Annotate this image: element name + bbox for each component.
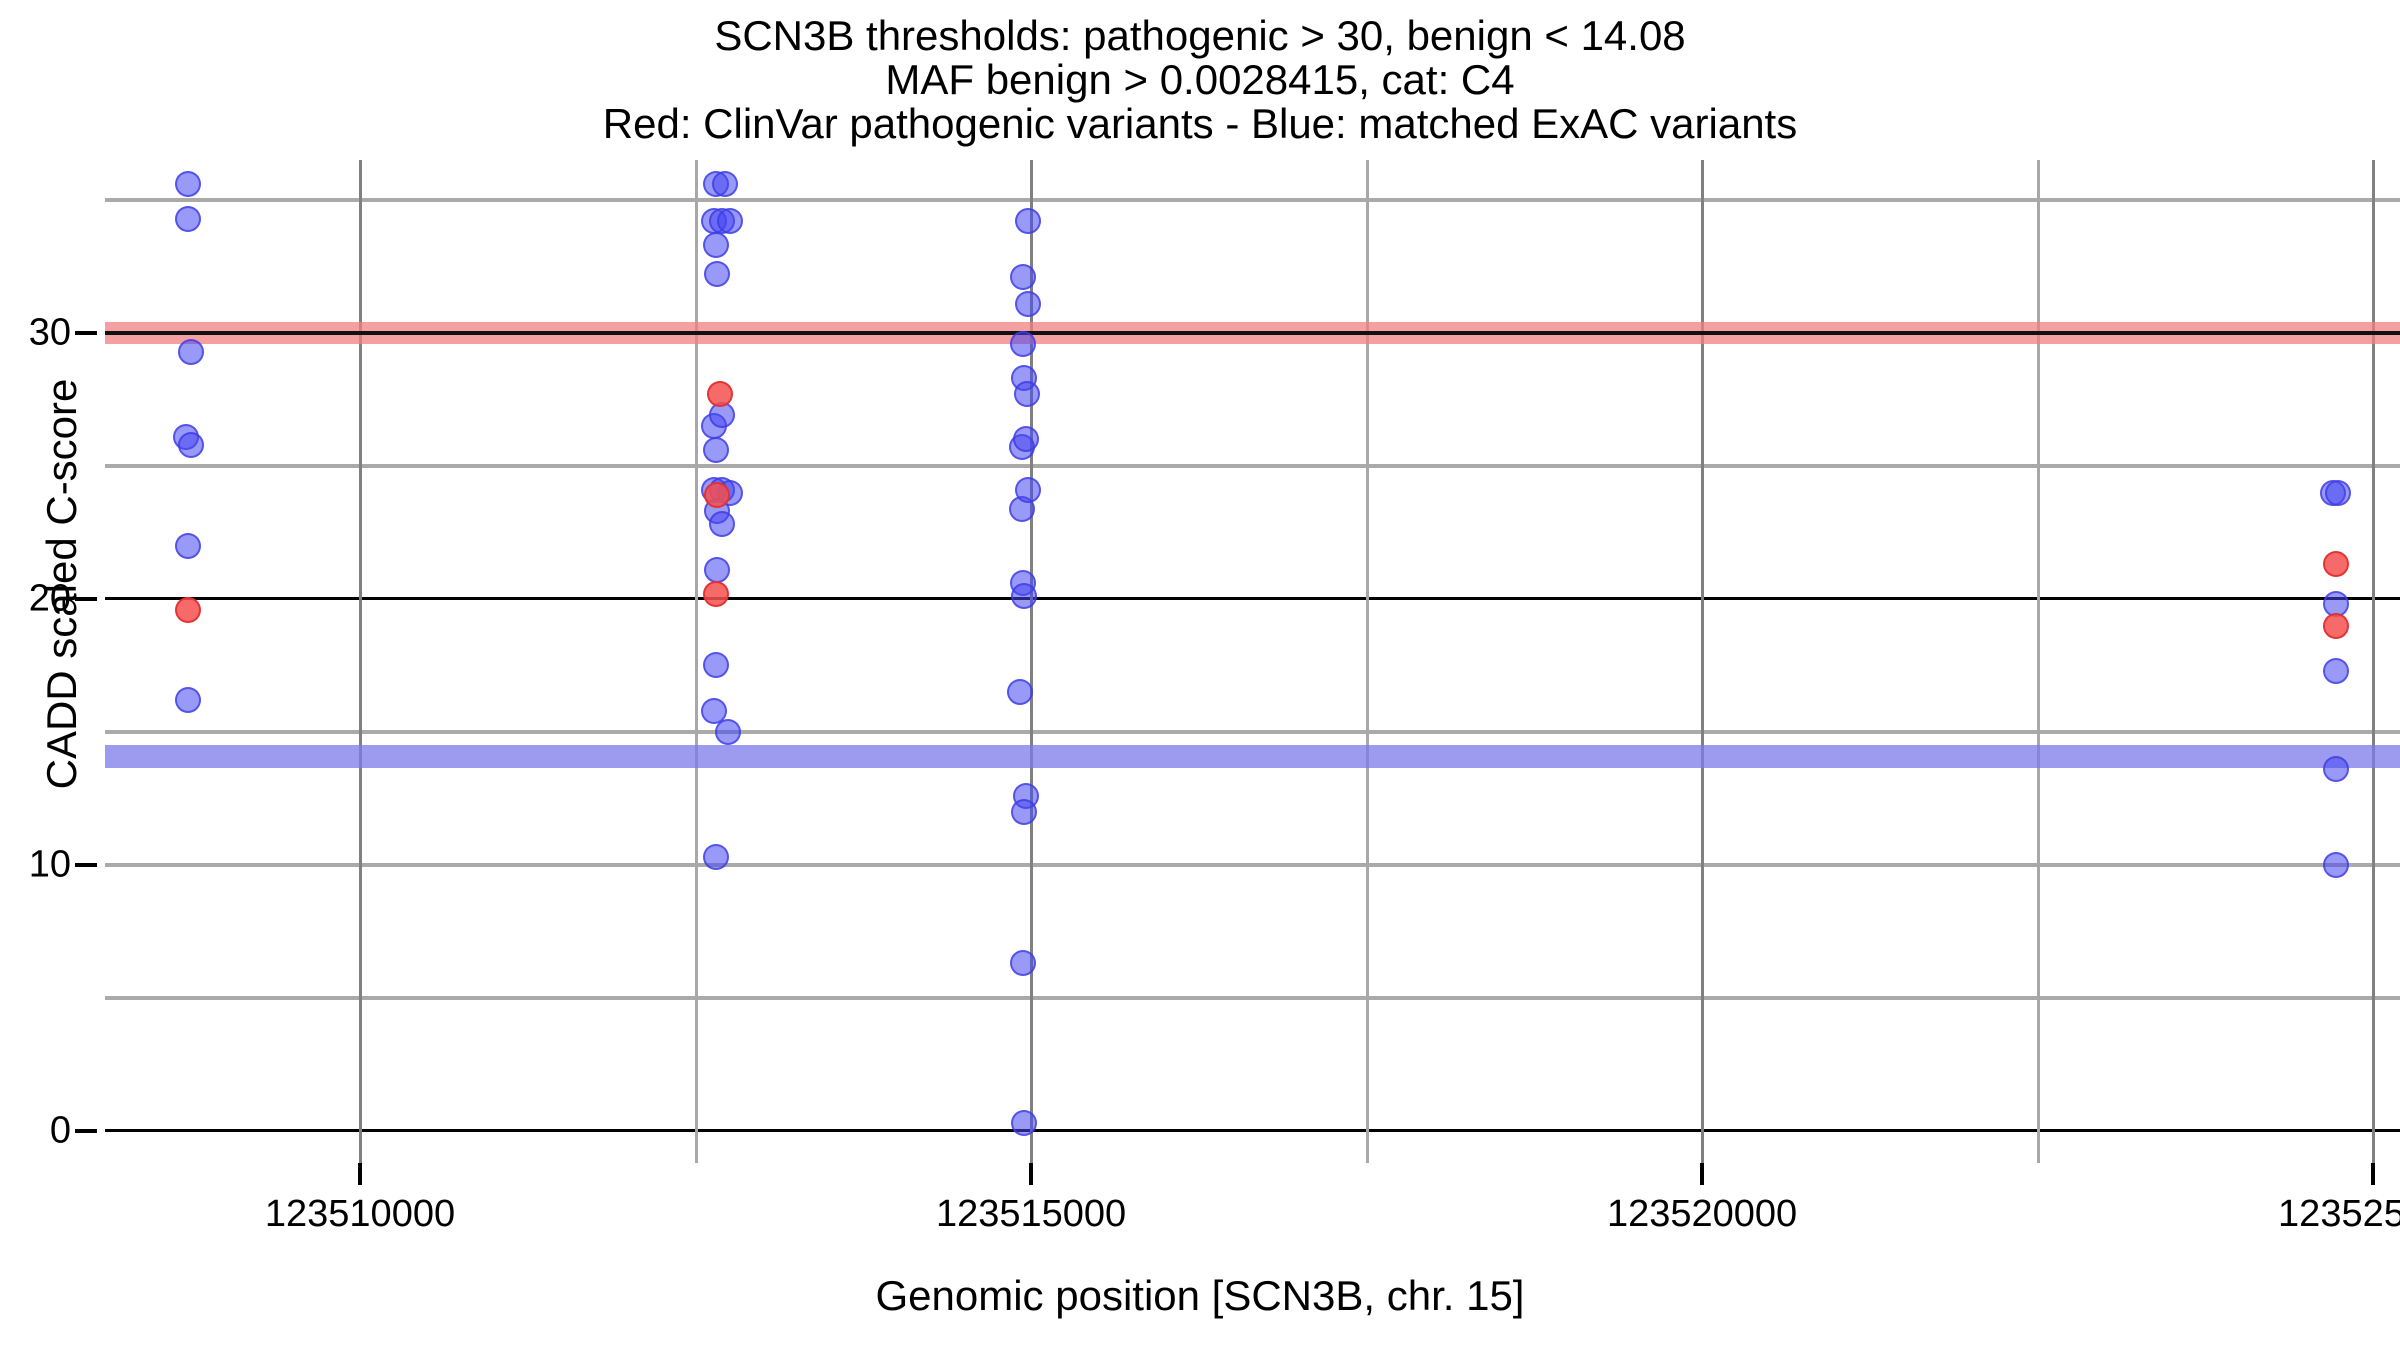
y-gridline [105, 863, 2400, 867]
exac-variant-point [703, 652, 729, 678]
exac-variant-point [175, 533, 201, 559]
x-gridline-minor [695, 160, 698, 1163]
title-line-3: Red: ClinVar pathogenic variants - Blue:… [0, 102, 2400, 146]
exac-variant-point [178, 432, 204, 458]
pathogenic-variant-point [2323, 551, 2349, 577]
y-gridline [105, 730, 2400, 734]
exac-variant-point [175, 206, 201, 232]
x-gridline-minor [2037, 160, 2040, 1163]
exac-variant-point [2323, 658, 2349, 684]
x-tick-mark [2371, 1163, 2375, 1185]
exac-variant-point [175, 171, 201, 197]
plot-area [105, 160, 2400, 1163]
x-tick-mark [358, 1163, 362, 1185]
y-axis-label: CADD scaled C-score [38, 204, 86, 964]
exac-variant-point [715, 719, 741, 745]
exac-variant-point [712, 171, 738, 197]
pathogenic-variant-point [703, 581, 729, 607]
pathogenic-threshold-line [105, 331, 2400, 335]
y-gridline [105, 464, 2400, 468]
benign-threshold-line-band [105, 745, 2400, 769]
exac-variant-point [1011, 1110, 1037, 1136]
y-gridline [105, 198, 2400, 202]
y-gridline [105, 996, 2400, 1000]
exac-variant-point [2323, 852, 2349, 878]
y-tick-mark [75, 1129, 97, 1133]
exac-variant-point [703, 232, 729, 258]
exac-variant-point [709, 511, 735, 537]
x-tick-label: 123510000 [265, 1193, 455, 1236]
exac-variant-point [704, 557, 730, 583]
exac-variant-point [1010, 331, 1036, 357]
x-tick-label: 123520000 [1607, 1193, 1797, 1236]
x-axis-label: Genomic position [SCN3B, chr. 15] [0, 1272, 2400, 1320]
exac-variant-point [1010, 264, 1036, 290]
x-gridline-minor [1366, 160, 1369, 1163]
exac-variant-point [2325, 480, 2351, 506]
x-gridline-major [359, 160, 362, 1163]
x-tick-mark [1700, 1163, 1704, 1185]
exac-variant-point [717, 208, 743, 234]
exac-variant-point [704, 261, 730, 287]
exac-variant-point [703, 437, 729, 463]
x-tick-label: 123525000 [2278, 1193, 2400, 1236]
exac-variant-point [1013, 426, 1039, 452]
x-tick-label: 123515000 [936, 1193, 1126, 1236]
figure-title: SCN3B thresholds: pathogenic > 30, benig… [0, 14, 2400, 146]
pathogenic-variant-point [707, 381, 733, 407]
exac-variant-point [1015, 477, 1041, 503]
exac-variant-point [1011, 583, 1037, 609]
scatter-plot-figure: SCN3B thresholds: pathogenic > 30, benig… [0, 0, 2400, 1350]
x-axis: 123510000123515000123520000123525000 [105, 1163, 2400, 1273]
y-tick-label: 0 [50, 1110, 71, 1153]
exac-variant-point [2323, 756, 2349, 782]
exac-variant-point [1011, 799, 1037, 825]
y-gridline [105, 1129, 2400, 1132]
title-line-1: SCN3B thresholds: pathogenic > 30, benig… [0, 14, 2400, 58]
x-tick-mark [1029, 1163, 1033, 1185]
exac-variant-point [1015, 208, 1041, 234]
exac-variant-point [178, 339, 204, 365]
x-gridline-major [1701, 160, 1704, 1163]
pathogenic-variant-point [175, 597, 201, 623]
exac-variant-point [175, 687, 201, 713]
pathogenic-variant-point [2323, 613, 2349, 639]
x-gridline-major [2372, 160, 2375, 1163]
exac-variant-point [1015, 291, 1041, 317]
title-line-2: MAF benign > 0.0028415, cat: C4 [0, 58, 2400, 102]
exac-variant-point [703, 844, 729, 870]
exac-variant-point [1014, 381, 1040, 407]
y-gridline [105, 597, 2400, 600]
